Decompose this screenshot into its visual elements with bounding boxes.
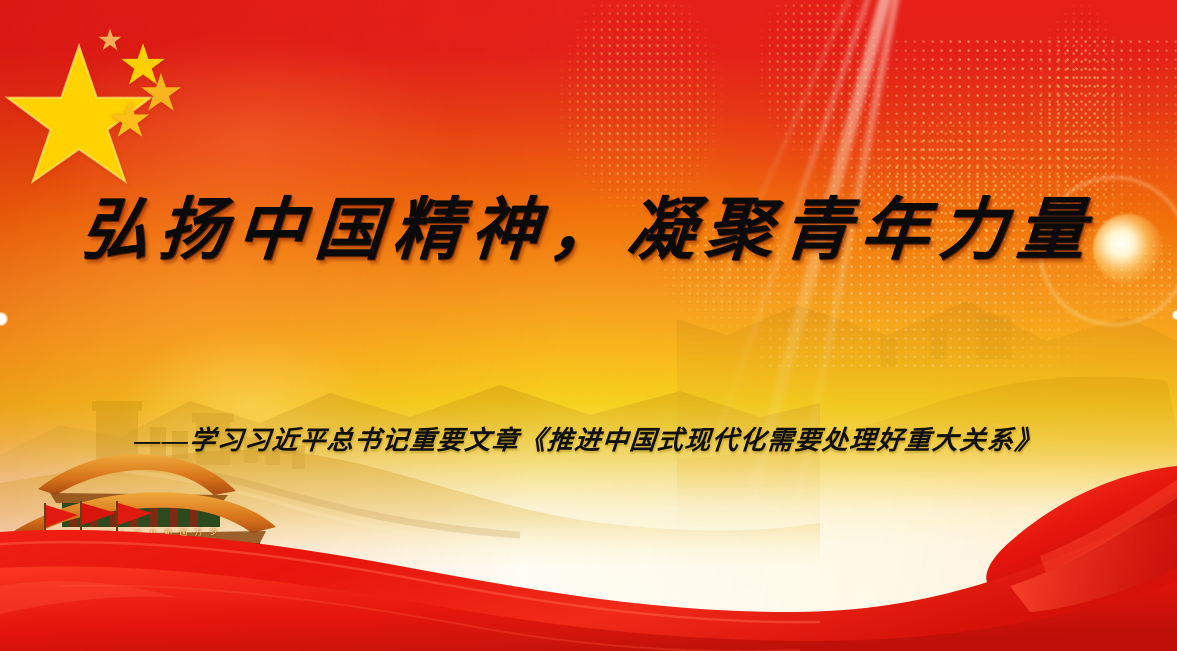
edge-marker-dot-right-icon [1172, 310, 1177, 320]
chinese-flag-stars [0, 0, 260, 170]
page-subtitle: ——学习习近平总书记重要文章《推进中国式现代化需要处理好重大关系》 [0, 420, 1177, 457]
flag-star-small-3-icon [110, 100, 150, 138]
poster-banner: 中 华 人 民 共 和 国 万 岁 [0, 0, 1177, 651]
red-silk-ribbon-icon [0, 436, 1177, 651]
flag-star-small-4-icon [98, 28, 122, 51]
page-title: 弘扬中国精神，凝聚青年力量 [0, 174, 1177, 273]
